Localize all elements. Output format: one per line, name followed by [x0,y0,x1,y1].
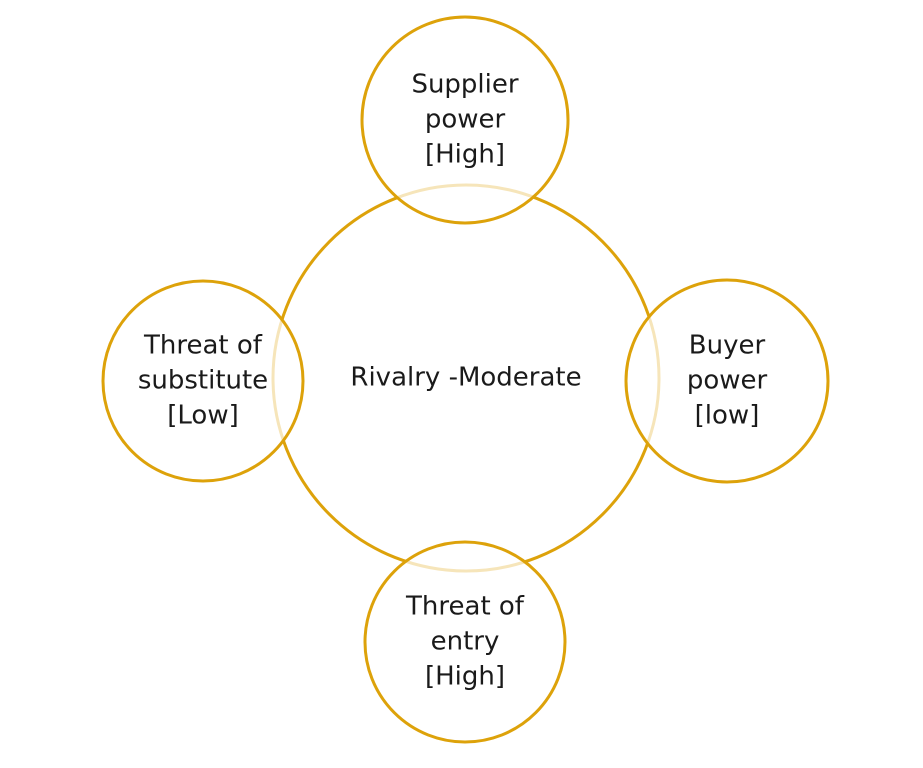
rivalry-circle-outline [273,185,659,571]
force-circles-group [103,17,828,742]
five-forces-venn-diagram [0,0,923,768]
diagram-canvas: Rivalry -Moderate Supplier power [High] … [0,0,923,768]
